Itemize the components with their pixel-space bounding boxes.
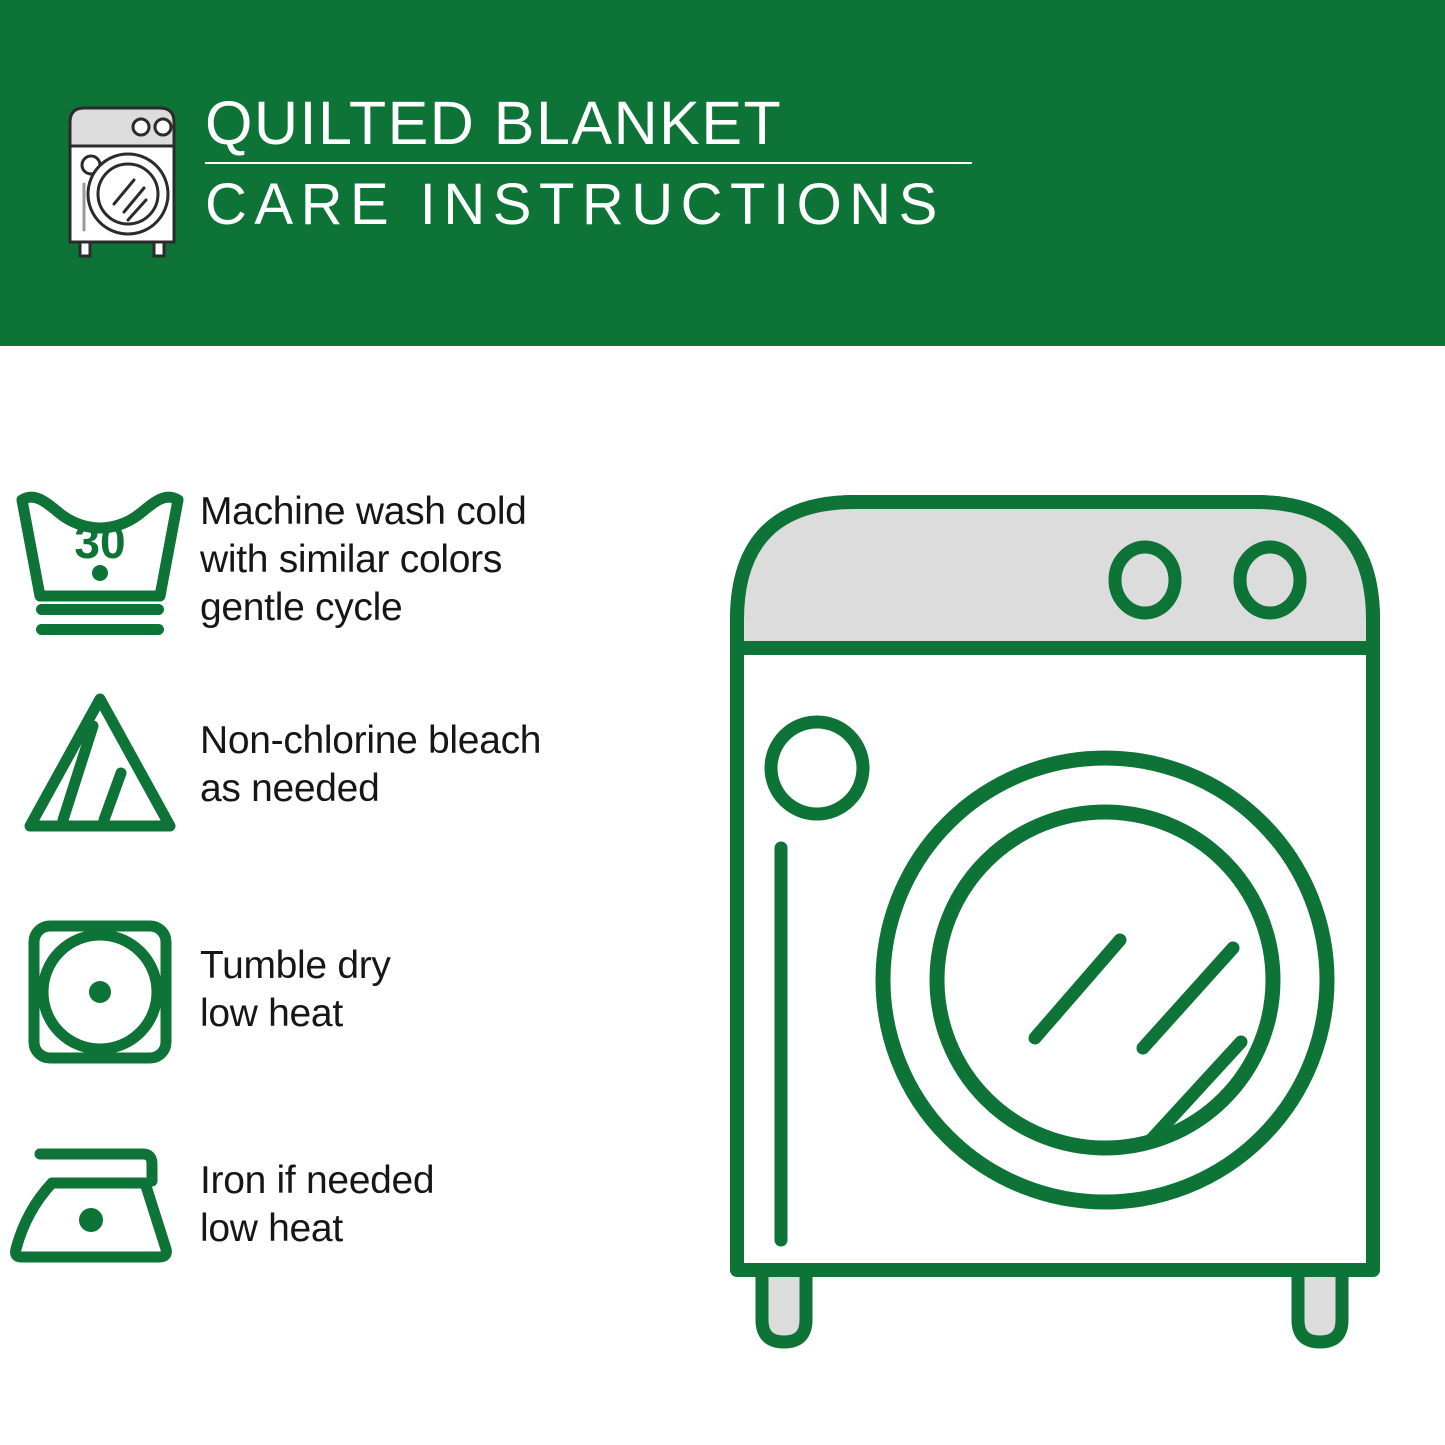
tumble-dry-low-icon	[0, 906, 200, 1081]
care-row-tumble-dry: Tumble dry low heat	[0, 906, 700, 1106]
care-line: Iron if needed	[200, 1157, 434, 1205]
header-titles: QUILTED BLANKET CARE INSTRUCTIONS	[205, 88, 1045, 240]
page-subtitle: CARE INSTRUCTIONS	[205, 170, 1045, 240]
care-row-bleach: Non-chlorine bleach as needed	[0, 681, 700, 881]
care-text-machine-wash: Machine wash cold with similar colors ge…	[200, 466, 527, 632]
page-title: QUILTED BLANKET	[205, 88, 1045, 158]
header-band: QUILTED BLANKET CARE INSTRUCTIONS	[0, 0, 1445, 346]
wash-temperature-value: 30	[74, 516, 125, 568]
care-line: low heat	[200, 1205, 434, 1253]
wash-tub-30-gentle-icon: 30	[0, 466, 200, 641]
care-row-iron: Iron if needed low heat	[0, 1121, 700, 1321]
care-line: Machine wash cold	[200, 488, 527, 536]
care-line: low heat	[200, 990, 391, 1038]
washing-machine-icon	[62, 100, 182, 258]
non-chlorine-bleach-triangle-icon	[0, 681, 200, 856]
care-text-bleach: Non-chlorine bleach as needed	[200, 681, 541, 813]
care-text-tumble-dry: Tumble dry low heat	[200, 906, 391, 1038]
care-instructions-poster: QUILTED BLANKET CARE INSTRUCTIONS 30	[0, 0, 1445, 1445]
care-line: Tumble dry	[200, 942, 391, 990]
care-line: as needed	[200, 765, 541, 813]
front-load-washing-machine-illustration	[705, 470, 1405, 1370]
header-content: QUILTED BLANKET CARE INSTRUCTIONS	[62, 88, 1062, 278]
title-divider	[205, 162, 972, 164]
care-line: gentle cycle	[200, 584, 527, 632]
iron-low-heat-icon	[0, 1121, 200, 1296]
care-text-iron: Iron if needed low heat	[200, 1121, 434, 1253]
care-row-machine-wash: 30 Machine wash cold with similar colors…	[0, 466, 700, 666]
care-line: with similar colors	[200, 536, 527, 584]
care-line: Non-chlorine bleach	[200, 717, 541, 765]
